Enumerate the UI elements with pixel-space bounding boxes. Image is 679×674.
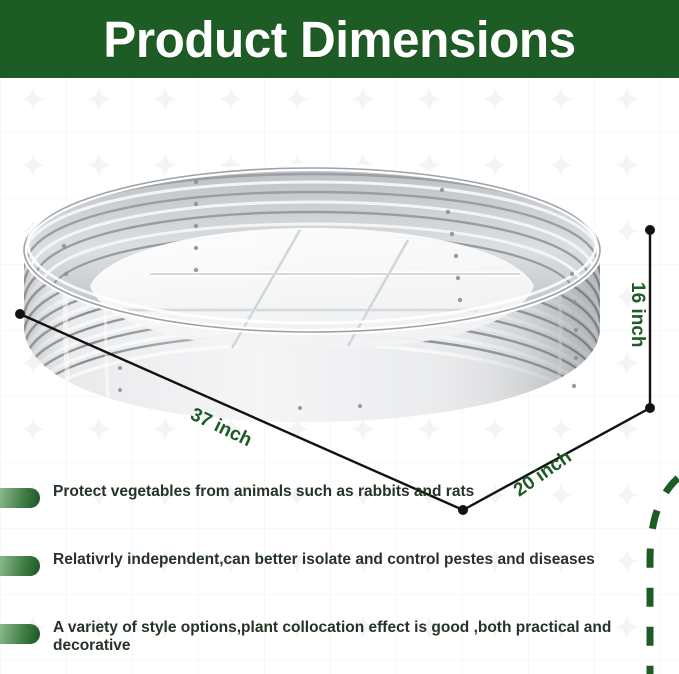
feature-text: Relativrly independent,can better isolat… [53,551,595,569]
feature-text: Protect vegetables from animals such as … [53,483,474,501]
feature-list: Protect vegetables from animals such as … [0,483,679,674]
feature-list-item: A variety of style options,plant colloca… [0,619,679,655]
dimension-label-height: 16 inch [626,282,648,347]
bullet-pill-icon [0,488,40,508]
feature-list-item: Relativrly independent,can better isolat… [0,551,679,576]
feature-list-item: Protect vegetables from animals such as … [0,483,679,508]
page-title: Product Dimensions [103,14,575,65]
bullet-pill-icon [0,556,40,576]
bullet-pill-icon [0,624,40,644]
feature-text: A variety of style options,plant colloca… [53,619,613,655]
product-illustration [0,78,679,498]
header-banner: Product Dimensions [0,0,679,78]
